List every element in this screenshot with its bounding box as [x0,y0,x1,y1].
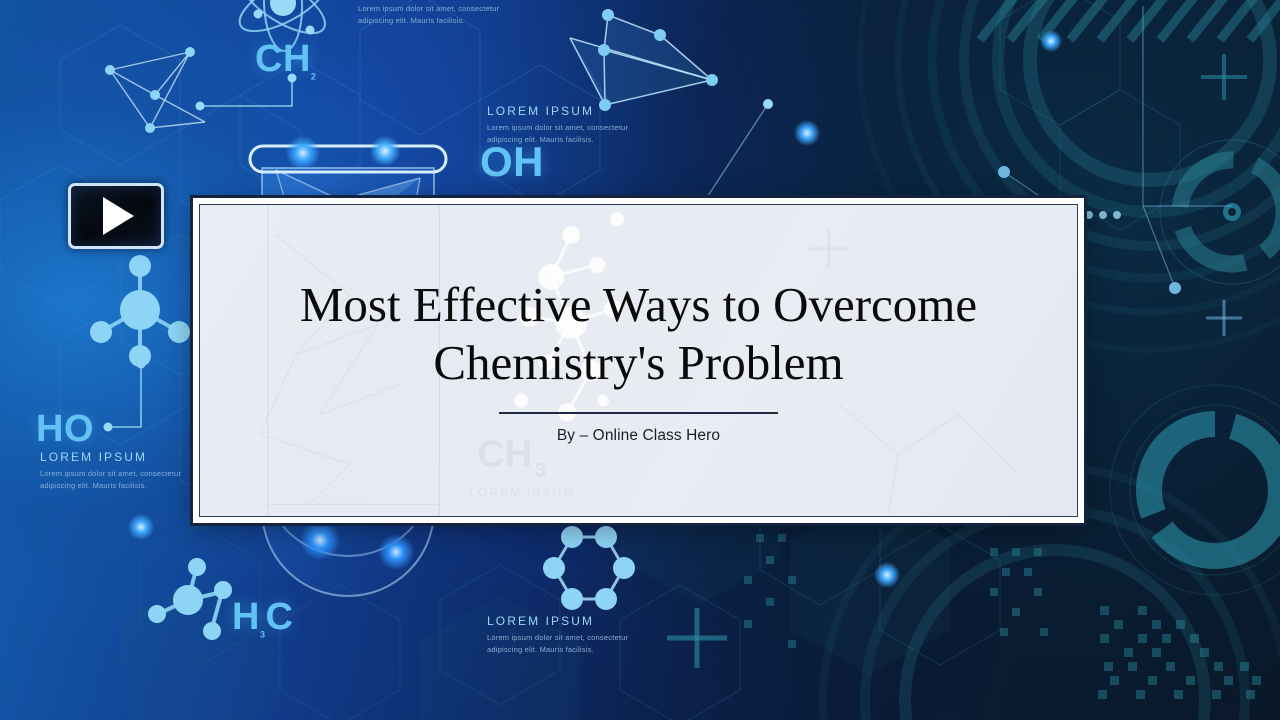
formula-ch2: CH2 [255,38,316,82]
formula-ch2-subscript: 2 [311,72,317,82]
lorem-body-benzene: Lorem ipsum dolor sit amet, consectetur … [487,632,657,655]
title-line-1: Most Effective Ways to Overcome [300,277,977,332]
title-card-inner: CH 3 LOREM IPSUM Most Effective Ways to … [199,204,1078,517]
title-line-2: Chemistry's Problem [433,335,843,390]
lorem-heading-ho: LOREM IPSUM [40,450,147,464]
dots-row [1085,211,1121,219]
connector-line [700,99,773,208]
formula-h3c-pre: H [232,596,260,638]
lorem-body-ho: Lorem ipsum dolor sit amet, consectetur … [40,468,210,491]
wireframe-molecule-icon [105,47,205,133]
formula-ho: HO [36,408,94,451]
svg-text:3: 3 [535,459,546,481]
lorem-body-oh: Lorem ipsum dolor sit amet, consectetur … [487,122,657,145]
page-title: Most Effective Ways to Overcome Chemistr… [239,276,1039,392]
subtitle: By – Online Class Hero [557,427,720,445]
svg-text:CH: CH [477,433,532,475]
ring-gauge-icon [1110,385,1280,595]
title-card: CH 3 LOREM IPSUM Most Effective Ways to … [193,198,1084,523]
play-button[interactable] [68,183,164,249]
connector-line [104,360,146,432]
lorem-body-top: Lorem ipsum dolor sit amet, consectetur … [358,3,520,26]
formula-h3c: H3C [232,596,293,640]
lorem-heading-oh: LOREM IPSUM [487,104,594,118]
formula-ch2-main: CH [255,38,311,80]
molecule-icon [90,255,190,367]
plus-sign-icon [1201,54,1247,100]
plus-sign-icon [667,608,727,668]
lorem-heading-benzene: LOREM IPSUM [487,614,594,628]
formula-h3c-post: C [265,596,293,638]
svg-text:LOREM IPSUM: LOREM IPSUM [469,485,575,499]
presentation-slide: CH2 OH HO H3C Lorem ipsum dolor sit amet… [0,0,1280,720]
title-divider [499,412,778,414]
play-icon [103,197,134,235]
